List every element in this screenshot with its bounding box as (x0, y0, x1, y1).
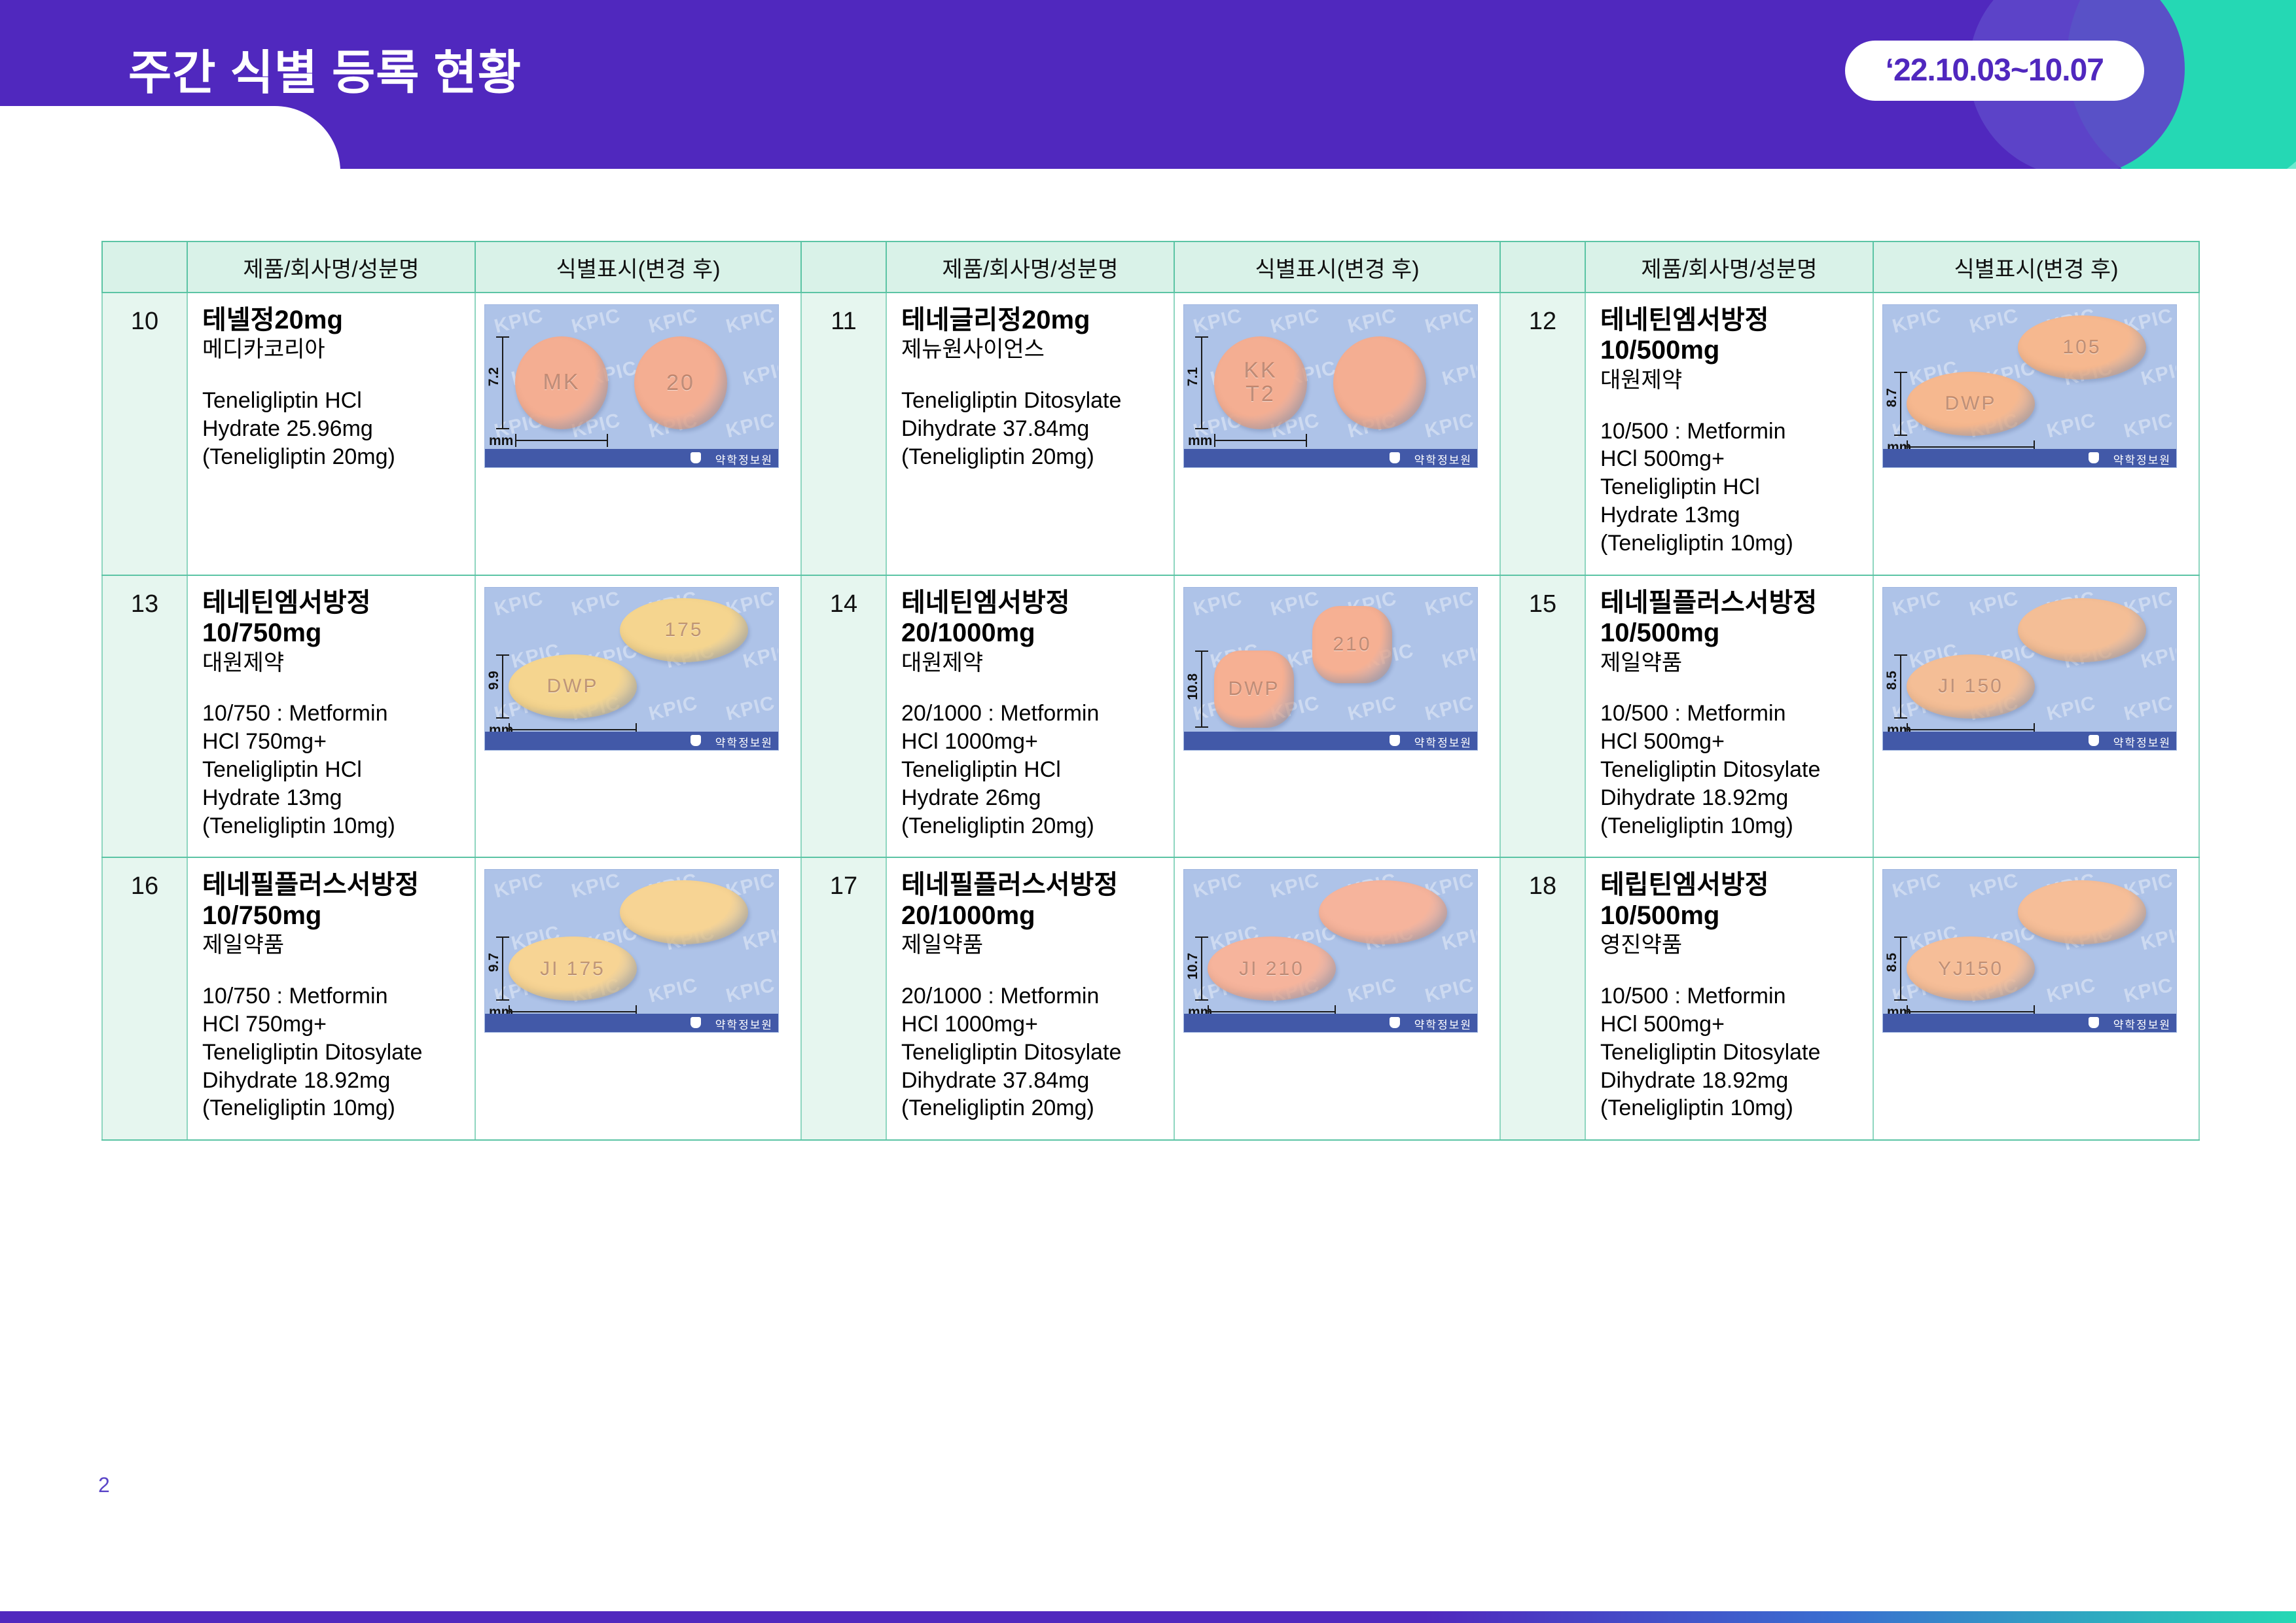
height-ruler (502, 936, 503, 1001)
pill-image-cell: KPICKPICKPICKPICKPICKPICKPICKPICKPICKPIC… (1174, 293, 1500, 575)
company-name: 대원제약 (1600, 367, 1866, 394)
kpic-watermark: KPIC (1440, 922, 1477, 955)
ingredient-text: 10/500 : Metformin HCl 500mg+ Teneliglip… (1600, 418, 1866, 558)
shield-icon (1390, 735, 1400, 746)
kpic-watermark: KPIC (647, 974, 700, 1008)
content-sheet: 제품/회사명/성분명 식별표시(변경 후) 제품/회사명/성분명 식별표시(변경… (0, 169, 2296, 1543)
ingredient-text: 10/750 : Metformin HCl 750mg+ Teneliglip… (202, 700, 468, 840)
height-ruler (502, 654, 503, 719)
height-value: 7.1 (1185, 367, 1201, 386)
pill-image-cell: KPICKPICKPICKPICKPICKPICKPICKPICKPICKPIC… (475, 293, 801, 575)
pill-photo: KPICKPICKPICKPICKPICKPICKPICKPICKPICKPIC… (485, 305, 778, 467)
unit-label: mm (489, 433, 513, 449)
photo-source-label: 약학정보원 (715, 451, 773, 467)
kpic-watermark: KPIC (492, 870, 546, 903)
height-value: 8.5 (1884, 671, 1900, 690)
row-index: 18 (1500, 857, 1585, 1140)
row-index: 16 (102, 857, 187, 1140)
photo-source-bar: 약학정보원 (485, 449, 778, 467)
kpic-watermark: KPIC (2045, 974, 2098, 1008)
pill-imprint-back: 210 (1312, 606, 1392, 683)
photo-source-label: 약학정보원 (1414, 1016, 1472, 1032)
photo-source-label: 약학정보원 (2113, 1016, 2171, 1032)
product-info-cell: 테립틴엠서방정 10/500mg영진약품10/500 : Metformin H… (1585, 857, 1873, 1140)
pill-back-face: 105 (2018, 315, 2146, 380)
pill-photo: KPICKPICKPICKPICKPICKPICKPICKPICKPICKPIC… (485, 588, 778, 750)
pill-back-face (2018, 598, 2146, 662)
product-info-cell: 테네필플러스서방정 20/1000mg제일약품20/1000 : Metform… (886, 857, 1174, 1140)
bottom-accent-bar (0, 1611, 2296, 1623)
pill-imprint-back: 20 (634, 336, 727, 429)
kpic-watermark: KPIC (1890, 870, 1944, 903)
kpic-watermark: KPIC (1423, 692, 1477, 725)
kpic-watermark: KPIC (492, 305, 546, 338)
kpic-watermark: KPIC (569, 588, 623, 621)
kpic-watermark: KPIC (1890, 588, 1944, 621)
kpic-watermark: KPIC (1346, 692, 1399, 725)
width-ruler (1907, 446, 2035, 448)
page-title: 주간 식별 등록 현황 (128, 34, 522, 103)
photo-source-bar: 약학정보원 (1883, 449, 2176, 467)
page-header: 주간 식별 등록 현황 ‘22.10.03~10.07 (0, 0, 2296, 169)
product-name: 테네틴엠서방정 20/1000mg (901, 588, 1167, 649)
height-ruler (1900, 936, 1901, 1001)
header-product-2: 제품/회사명/성분명 (886, 241, 1174, 293)
row-index: 15 (1500, 575, 1585, 858)
kpic-watermark: KPIC (1440, 357, 1477, 390)
company-name: 영진약품 (1600, 932, 1866, 959)
pill-imprint-front: DWP (1214, 651, 1294, 728)
kpic-watermark: KPIC (1191, 305, 1245, 338)
pill-photo: KPICKPICKPICKPICKPICKPICKPICKPICKPICKPIC… (1184, 588, 1477, 750)
ingredient-text: Teneligliptin Ditosylate Dihydrate 37.84… (901, 387, 1167, 471)
pill-back-face (1319, 880, 1447, 944)
kpic-watermark: KPIC (724, 305, 778, 338)
company-name: 제일약품 (1600, 650, 1866, 677)
kpic-watermark: KPIC (647, 692, 700, 725)
kpic-watermark: KPIC (2122, 692, 2176, 725)
pill-back-face: 210 (1312, 606, 1392, 683)
shield-icon (691, 735, 701, 746)
header-corner-curve (0, 106, 340, 169)
pill-imprint-front: JI 150 (1907, 654, 2035, 719)
height-ruler (1201, 936, 1202, 1001)
width-ruler (515, 440, 608, 441)
product-name: 테네글리정20mg (901, 305, 1167, 335)
shield-icon (2089, 1017, 2099, 1028)
height-value: 9.7 (486, 953, 502, 972)
pill-back-face: 20 (634, 336, 727, 429)
pill-back-face (620, 880, 748, 944)
photo-source-bar: 약학정보원 (485, 1014, 778, 1032)
kpic-watermark: KPIC (2122, 409, 2176, 442)
kpic-watermark: KPIC (1191, 588, 1245, 621)
height-ruler (1201, 336, 1202, 429)
photo-source-bar: 약학정보원 (1883, 1014, 2176, 1032)
pill-front-face: YJ150 (1907, 936, 2035, 1001)
height-value: 10.8 (1185, 673, 1201, 700)
pill-front-face: KK T2 (1214, 336, 1307, 429)
pill-imprint-front: JI 175 (509, 936, 637, 1001)
header-product-3: 제품/회사명/성분명 (1585, 241, 1873, 293)
pill-photo: KPICKPICKPICKPICKPICKPICKPICKPICKPICKPIC… (1883, 870, 2176, 1032)
kpic-watermark: KPIC (2139, 639, 2176, 673)
width-ruler (1214, 440, 1307, 441)
ingredient-text: 10/500 : Metformin HCl 500mg+ Teneliglip… (1600, 982, 1866, 1122)
pill-photo: KPICKPICKPICKPICKPICKPICKPICKPICKPICKPIC… (1184, 870, 1477, 1032)
kpic-watermark: KPIC (1967, 870, 2021, 903)
height-ruler (1900, 654, 1901, 719)
header-mark-1: 식별표시(변경 후) (475, 241, 801, 293)
row-index: 14 (801, 575, 886, 858)
kpic-watermark: KPIC (569, 305, 623, 338)
date-range-badge: ‘22.10.03~10.07 (1845, 41, 2144, 101)
pill-image-cell: KPICKPICKPICKPICKPICKPICKPICKPICKPICKPIC… (1174, 575, 1500, 858)
pill-front-face: DWP (1214, 651, 1294, 728)
kpic-watermark: KPIC (1268, 870, 1322, 903)
photo-source-bar: 약학정보원 (1184, 449, 1477, 467)
pill-imprint-front: MK (515, 336, 608, 429)
height-ruler (502, 336, 503, 429)
row-index: 10 (102, 293, 187, 575)
header-product-1: 제품/회사명/성분명 (187, 241, 475, 293)
kpic-watermark: KPIC (1967, 588, 2021, 621)
photo-source-bar: 약학정보원 (1184, 1014, 1477, 1032)
row-index: 11 (801, 293, 886, 575)
pill-front-face: DWP (1907, 372, 2035, 436)
pill-imprint-front: DWP (509, 654, 637, 719)
company-name: 대원제약 (901, 650, 1167, 677)
product-info-cell: 테네글리정20mg제뉴원사이언스Teneligliptin Ditosylate… (886, 293, 1174, 575)
photo-source-label: 약학정보원 (715, 1016, 773, 1032)
pill-front-face: DWP (509, 654, 637, 719)
pill-front-face: JI 175 (509, 936, 637, 1001)
row-index: 12 (1500, 293, 1585, 575)
pill-image-cell: KPICKPICKPICKPICKPICKPICKPICKPICKPICKPIC… (475, 575, 801, 858)
photo-source-label: 약학정보원 (1414, 451, 1472, 467)
pill-image-cell: KPICKPICKPICKPICKPICKPICKPICKPICKPICKPIC… (1873, 857, 2199, 1140)
photo-source-bar: 약학정보원 (1184, 732, 1477, 750)
company-name: 제뉴원사이언스 (901, 336, 1167, 363)
kpic-watermark: KPIC (647, 305, 700, 338)
pill-image-cell: KPICKPICKPICKPICKPICKPICKPICKPICKPICKPIC… (1873, 293, 2199, 575)
product-info-cell: 테네틴엠서방정 10/750mg대원제약10/750 : Metformin H… (187, 575, 475, 858)
kpic-watermark: KPIC (1440, 639, 1477, 673)
table-row: 16테네필플러스서방정 10/750mg제일약품10/750 : Metform… (102, 857, 2199, 1140)
photo-source-label: 약학정보원 (715, 734, 773, 750)
product-name: 테네틴엠서방정 10/500mg (1600, 305, 1866, 366)
photo-source-label: 약학정보원 (2113, 734, 2171, 750)
ingredient-text: 10/750 : Metformin HCl 750mg+ Teneliglip… (202, 982, 468, 1122)
height-value: 8.7 (1884, 388, 1900, 407)
kpic-watermark: KPIC (1423, 974, 1477, 1008)
kpic-watermark: KPIC (2045, 409, 2098, 442)
table-row: 13테네틴엠서방정 10/750mg대원제약10/750 : Metformin… (102, 575, 2199, 858)
kpic-watermark: KPIC (2122, 974, 2176, 1008)
header-mark-3: 식별표시(변경 후) (1873, 241, 2199, 293)
product-info-cell: 테네틴엠서방정 10/500mg대원제약10/500 : Metformin H… (1585, 293, 1873, 575)
height-value: 10.7 (1185, 953, 1201, 980)
product-info-cell: 테네필플러스서방정 10/750mg제일약품10/750 : Metformin… (187, 857, 475, 1140)
kpic-watermark: KPIC (1423, 305, 1477, 338)
photo-source-label: 약학정보원 (1414, 734, 1472, 750)
ingredient-text: 20/1000 : Metformin HCl 1000mg+ Teneligl… (901, 700, 1167, 840)
pill-photo: KPICKPICKPICKPICKPICKPICKPICKPICKPICKPIC… (485, 870, 778, 1032)
pill-front-face: MK (515, 336, 608, 429)
kpic-watermark: KPIC (1967, 305, 2021, 338)
pill-front-face: JI 210 (1208, 936, 1336, 1001)
pill-imprint-front: KK T2 (1214, 336, 1307, 429)
ingredient-text: 20/1000 : Metformin HCl 1000mg+ Teneligl… (901, 982, 1167, 1122)
company-name: 제일약품 (202, 932, 468, 959)
height-ruler (1201, 651, 1202, 728)
kpic-watermark: KPIC (1890, 305, 1944, 338)
width-ruler (509, 1011, 637, 1012)
pill-photo: KPICKPICKPICKPICKPICKPICKPICKPICKPICKPIC… (1883, 588, 2176, 750)
width-ruler (509, 729, 637, 730)
pill-image-cell: KPICKPICKPICKPICKPICKPICKPICKPICKPICKPIC… (475, 857, 801, 1140)
header-index-3 (1500, 241, 1585, 293)
width-ruler (1907, 1011, 2035, 1012)
product-name: 테네필플러스서방정 10/750mg (202, 870, 468, 931)
ingredient-text: 10/500 : Metformin HCl 500mg+ Teneliglip… (1600, 700, 1866, 840)
ingredient-text: Teneligliptin HCl Hydrate 25.96mg (Tenel… (202, 387, 468, 471)
company-name: 대원제약 (202, 650, 468, 677)
kpic-watermark: KPIC (1191, 870, 1245, 903)
header-index-2 (801, 241, 886, 293)
kpic-watermark: KPIC (1346, 305, 1399, 338)
kpic-watermark: KPIC (1268, 305, 1322, 338)
kpic-watermark: KPIC (1423, 409, 1477, 442)
pill-imprint-back: 175 (620, 598, 748, 662)
kpic-watermark: KPIC (741, 357, 778, 390)
kpic-watermark: KPIC (724, 974, 778, 1008)
pill-imprint-back: 105 (2018, 315, 2146, 380)
shield-icon (1390, 1017, 1400, 1028)
kpic-watermark: KPIC (492, 588, 546, 621)
height-ruler (1900, 372, 1901, 436)
shield-icon (2089, 735, 2099, 746)
pill-photo: KPICKPICKPICKPICKPICKPICKPICKPICKPICKPIC… (1883, 305, 2176, 467)
kpic-watermark: KPIC (2045, 692, 2098, 725)
shield-icon (1390, 452, 1400, 463)
table-body: 10테넬정20mg메디카코리아Teneligliptin HCl Hydrate… (102, 293, 2199, 1140)
page-number: 2 (98, 1473, 110, 1497)
shield-icon (2089, 452, 2099, 463)
kpic-watermark: KPIC (724, 692, 778, 725)
row-index: 13 (102, 575, 187, 858)
table-row: 10테넬정20mg메디카코리아Teneligliptin HCl Hydrate… (102, 293, 2199, 575)
height-value: 7.2 (486, 367, 502, 386)
kpic-watermark: KPIC (2139, 922, 2176, 955)
company-name: 제일약품 (901, 932, 1167, 959)
photo-source-bar: 약학정보원 (485, 732, 778, 750)
unit-label: mm (1188, 433, 1212, 449)
product-name: 테네틴엠서방정 10/750mg (202, 588, 468, 649)
header-index-1 (102, 241, 187, 293)
product-name: 테네필플러스서방정 20/1000mg (901, 870, 1167, 931)
pill-image-cell: KPICKPICKPICKPICKPICKPICKPICKPICKPICKPIC… (1873, 575, 2199, 858)
pill-back-face (2018, 880, 2146, 944)
pill-imprint-front: JI 210 (1208, 936, 1336, 1001)
kpic-watermark: KPIC (1423, 588, 1477, 621)
pill-back-face: 175 (620, 598, 748, 662)
height-value: 8.5 (1884, 953, 1900, 972)
product-name: 테넬정20mg (202, 305, 468, 335)
kpic-watermark: KPIC (1346, 974, 1399, 1008)
product-info-cell: 테네틴엠서방정 20/1000mg대원제약20/1000 : Metformin… (886, 575, 1174, 858)
photo-source-label: 약학정보원 (2113, 451, 2171, 467)
kpic-watermark: KPIC (569, 870, 623, 903)
height-value: 9.9 (486, 671, 502, 690)
product-info-cell: 테네필플러스서방정 10/500mg제일약품10/500 : Metformin… (1585, 575, 1873, 858)
kpic-watermark: KPIC (741, 922, 778, 955)
header-mark-2: 식별표시(변경 후) (1174, 241, 1500, 293)
pill-imprint-front: DWP (1907, 372, 2035, 436)
company-name: 메디카코리아 (202, 336, 468, 363)
table-header-row: 제품/회사명/성분명 식별표시(변경 후) 제품/회사명/성분명 식별표시(변경… (102, 241, 2199, 293)
pill-image-cell: KPICKPICKPICKPICKPICKPICKPICKPICKPICKPIC… (1174, 857, 1500, 1140)
shield-icon (691, 1017, 701, 1028)
pill-photo: KPICKPICKPICKPICKPICKPICKPICKPICKPICKPIC… (1184, 305, 1477, 467)
product-info-cell: 테넬정20mg메디카코리아Teneligliptin HCl Hydrate 2… (187, 293, 475, 575)
row-index: 17 (801, 857, 886, 1140)
shield-icon (691, 452, 701, 463)
width-ruler (1208, 1011, 1336, 1012)
drug-identification-table: 제품/회사명/성분명 식별표시(변경 후) 제품/회사명/성분명 식별표시(변경… (101, 241, 2200, 1141)
pill-imprint-front: YJ150 (1907, 936, 2035, 1001)
kpic-watermark: KPIC (724, 409, 778, 442)
product-name: 테네필플러스서방정 10/500mg (1600, 588, 1866, 649)
pill-back-face (1333, 336, 1426, 429)
width-ruler (1907, 729, 2035, 730)
pill-front-face: JI 150 (1907, 654, 2035, 719)
product-name: 테립틴엠서방정 10/500mg (1600, 870, 1866, 931)
photo-source-bar: 약학정보원 (1883, 732, 2176, 750)
